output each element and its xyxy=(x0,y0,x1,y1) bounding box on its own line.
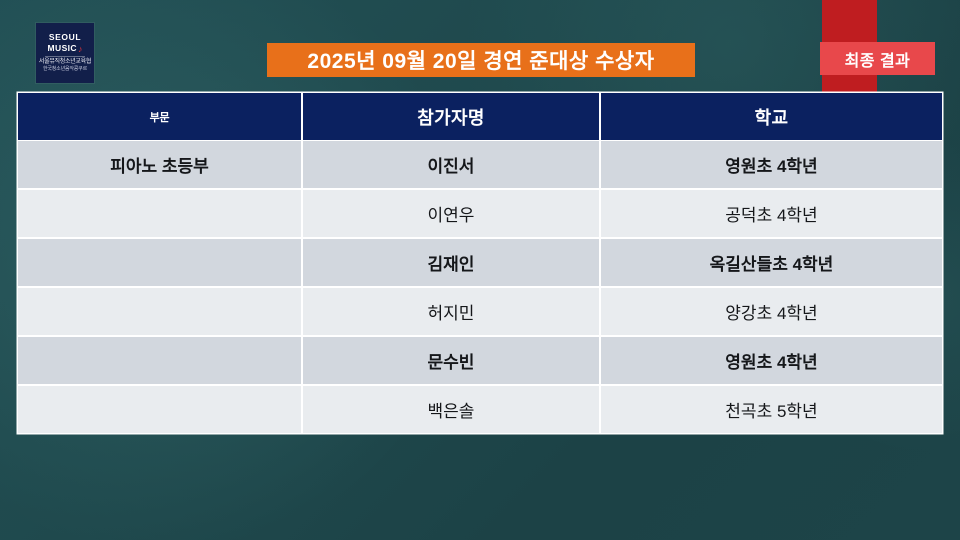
column-header-category: 부문 xyxy=(18,93,302,141)
table-row: 백은솔 천곡초 5학년 xyxy=(18,385,942,433)
cell-name: 백은솔 xyxy=(302,385,600,433)
final-result-badge: 최종 결과 xyxy=(820,42,935,75)
status-badge: 최종 결과 xyxy=(845,47,911,71)
seoul-music-logo: SEOUL MUSIC ♪ 서울뮤직청소년교육협 한국청소년음악콩쿠르 xyxy=(36,23,94,83)
page-title: 2025년 09월 20일 경연 준대상 수상자 xyxy=(307,45,654,75)
cell-category xyxy=(18,336,302,385)
cell-name: 이진서 xyxy=(302,141,600,190)
cell-category xyxy=(18,287,302,336)
table-row: 문수빈 영원초 4학년 xyxy=(18,336,942,385)
cell-name: 허지민 xyxy=(302,287,600,336)
cell-category xyxy=(18,189,302,238)
winners-table: 부문 참가자명 학교 피아노 초등부 이진서 영원초 4학년 이연우 공덕초 4… xyxy=(18,93,942,433)
cell-category: 피아노 초등부 xyxy=(18,141,302,190)
logo-korean-line-1: 서울뮤직청소년교육협 xyxy=(39,59,91,66)
logo-line-seoul: SEOUL xyxy=(49,33,81,43)
cell-school: 천곡초 5학년 xyxy=(600,385,942,433)
table-row: 이연우 공덕초 4학년 xyxy=(18,189,942,238)
cell-school: 옥길산들초 4학년 xyxy=(600,238,942,287)
logo-divider xyxy=(45,56,85,57)
column-header-participant: 참가자명 xyxy=(302,93,600,141)
slide-canvas: SEOUL MUSIC ♪ 서울뮤직청소년교육협 한국청소년음악콩쿠르 2025… xyxy=(0,0,960,540)
column-header-school: 학교 xyxy=(600,93,942,141)
cell-school: 영원초 4학년 xyxy=(600,336,942,385)
logo-korean-line-2: 한국청소년음악콩쿠르 xyxy=(43,66,87,73)
cell-school: 공덕초 4학년 xyxy=(600,189,942,238)
cell-name: 문수빈 xyxy=(302,336,600,385)
music-note-icon: ♪ xyxy=(78,45,83,53)
cell-name: 김재인 xyxy=(302,238,600,287)
logo-line-music-row: MUSIC ♪ xyxy=(48,43,83,53)
table-header-row: 부문 참가자명 학교 xyxy=(18,93,942,141)
cell-school: 양강초 4학년 xyxy=(600,287,942,336)
logo-line-music: MUSIC xyxy=(48,43,77,53)
cell-school: 영원초 4학년 xyxy=(600,141,942,190)
title-banner: 2025년 09월 20일 경연 준대상 수상자 xyxy=(267,43,695,77)
table-row: 허지민 양강초 4학년 xyxy=(18,287,942,336)
cell-category xyxy=(18,385,302,433)
cell-category xyxy=(18,238,302,287)
table-row: 김재인 옥길산들초 4학년 xyxy=(18,238,942,287)
cell-name: 이연우 xyxy=(302,189,600,238)
table-row: 피아노 초등부 이진서 영원초 4학년 xyxy=(18,141,942,190)
